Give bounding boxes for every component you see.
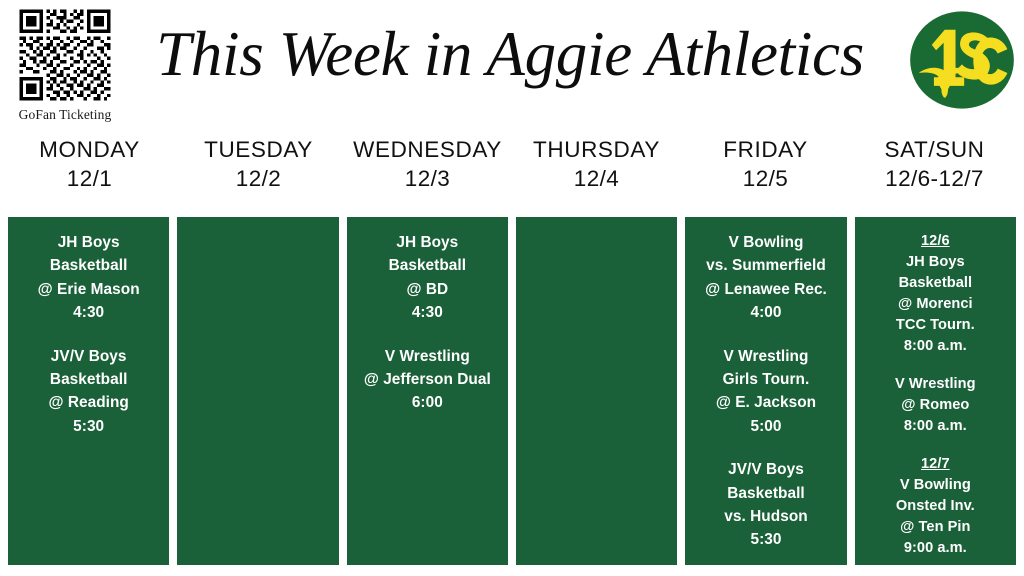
event-date-label: 12/6 xyxy=(859,231,1012,252)
event-line: 5:00 xyxy=(689,415,842,438)
day-column-sat-sun: 12/6JH BoysBasketball@ MorenciTCC Tourn.… xyxy=(855,217,1016,565)
day-date: 12/6-12/7 xyxy=(885,164,984,193)
day-header-tuesday: TUESDAY 12/2 xyxy=(177,132,340,212)
day-name: THURSDAY xyxy=(533,136,660,164)
day-name: MONDAY xyxy=(39,136,140,164)
event-entry: JH BoysBasketball@ BD4:30 xyxy=(351,231,504,325)
event-line: V Wrestling xyxy=(689,345,842,368)
event-entry: V WrestlingGirls Tourn.@ E. Jackson5:00 xyxy=(689,345,842,439)
day-header-wednesday: WEDNESDAY 12/3 xyxy=(346,132,509,212)
day-date: 12/5 xyxy=(743,164,788,193)
event-line: Basketball xyxy=(12,368,165,391)
event-line: @ Reading xyxy=(12,391,165,414)
event-line: @ Morenci xyxy=(859,294,1012,315)
event-line: V Wrestling xyxy=(859,374,1012,395)
event-line: Basketball xyxy=(12,254,165,277)
gofan-ticketing-label: GoFan Ticketing xyxy=(19,107,112,123)
day-name: WEDNESDAY xyxy=(353,136,502,164)
event-line: 8:00 a.m. xyxy=(859,336,1012,357)
event-line: Basketball xyxy=(689,482,842,505)
event-line: 8:00 a.m. xyxy=(859,416,1012,437)
event-line: Girls Tourn. xyxy=(689,368,842,391)
event-line: @ E. Jackson xyxy=(689,391,842,414)
event-line: V Bowling xyxy=(689,231,842,254)
aggies-1sc-longhorn-logo xyxy=(908,6,1016,114)
event-line: 5:30 xyxy=(689,528,842,551)
event-entry: JV/V BoysBasketball@ Reading5:30 xyxy=(12,345,165,439)
event-line: Basketball xyxy=(351,254,504,277)
event-line: @ Erie Mason xyxy=(12,278,165,301)
event-line: V Bowling xyxy=(859,475,1012,496)
event-line: JH Boys xyxy=(12,231,165,254)
day-column-tuesday xyxy=(177,217,338,565)
event-line: @ BD xyxy=(351,278,504,301)
event-line: vs. Hudson xyxy=(689,505,842,528)
qr-code-icon[interactable] xyxy=(13,6,117,104)
event-date-label: 12/7 xyxy=(859,454,1012,475)
event-line: @ Lenawee Rec. xyxy=(689,278,842,301)
event-line: 4:00 xyxy=(689,301,842,324)
event-line: 4:30 xyxy=(351,301,504,324)
day-name: TUESDAY xyxy=(204,136,313,164)
day-column-monday: JH BoysBasketball@ Erie Mason4:30JV/V Bo… xyxy=(8,217,169,565)
day-header-monday: MONDAY 12/1 xyxy=(8,132,171,212)
event-line: Basketball xyxy=(859,273,1012,294)
day-header-satsun: SAT/SUN 12/6-12/7 xyxy=(853,132,1016,212)
event-line: JH Boys xyxy=(859,252,1012,273)
event-line: vs. Summerfield xyxy=(689,254,842,277)
day-date: 12/3 xyxy=(405,164,450,193)
event-line: Onsted Inv. xyxy=(859,496,1012,517)
gofan-ticketing-block[interactable]: GoFan Ticketing xyxy=(6,6,124,123)
day-header-thursday: THURSDAY 12/4 xyxy=(515,132,678,212)
event-line: JV/V Boys xyxy=(12,345,165,368)
schedule-grid: JH BoysBasketball@ Erie Mason4:30JV/V Bo… xyxy=(0,217,1024,565)
day-headers-row: MONDAY 12/1 TUESDAY 12/2 WEDNESDAY 12/3 … xyxy=(0,132,1024,212)
day-header-friday: FRIDAY 12/5 xyxy=(684,132,847,212)
event-entry: JV/V BoysBasketballvs. Hudson5:30 xyxy=(689,458,842,552)
event-entry: V Bowlingvs. Summerfield@ Lenawee Rec.4:… xyxy=(689,231,842,325)
event-line: 5:30 xyxy=(12,415,165,438)
day-name: FRIDAY xyxy=(723,136,807,164)
day-date: 12/1 xyxy=(67,164,112,193)
day-column-thursday xyxy=(516,217,677,565)
event-entry: 12/6JH BoysBasketball@ MorenciTCC Tourn.… xyxy=(859,231,1012,357)
day-column-friday: V Bowlingvs. Summerfield@ Lenawee Rec.4:… xyxy=(685,217,846,565)
page-title: This Week in Aggie Athletics xyxy=(124,6,896,102)
event-entry: V Wrestling@ Jefferson Dual6:00 xyxy=(351,345,504,415)
event-line: 9:00 a.m. xyxy=(859,538,1012,559)
event-line: V Wrestling xyxy=(351,345,504,368)
event-line: TCC Tourn. xyxy=(859,315,1012,336)
day-name: SAT/SUN xyxy=(884,136,984,164)
header: GoFan Ticketing This Week in Aggie Athle… xyxy=(0,0,1024,128)
event-entry: V Wrestling@ Romeo8:00 a.m. xyxy=(859,374,1012,437)
day-date: 12/4 xyxy=(574,164,619,193)
event-line: @ Ten Pin xyxy=(859,517,1012,538)
day-date: 12/2 xyxy=(236,164,281,193)
event-line: JH Boys xyxy=(351,231,504,254)
day-column-wednesday: JH BoysBasketball@ BD4:30V Wrestling@ Je… xyxy=(347,217,508,565)
event-line: 6:00 xyxy=(351,391,504,414)
event-entry: 12/7V BowlingOnsted Inv.@ Ten Pin9:00 a.… xyxy=(859,454,1012,559)
weekly-athletics-schedule-graphic: GoFan Ticketing This Week in Aggie Athle… xyxy=(0,0,1024,576)
event-line: @ Jefferson Dual xyxy=(351,368,504,391)
event-line: 4:30 xyxy=(12,301,165,324)
event-line: @ Romeo xyxy=(859,395,1012,416)
event-entry: JH BoysBasketball@ Erie Mason4:30 xyxy=(12,231,165,325)
event-line: JV/V Boys xyxy=(689,458,842,481)
